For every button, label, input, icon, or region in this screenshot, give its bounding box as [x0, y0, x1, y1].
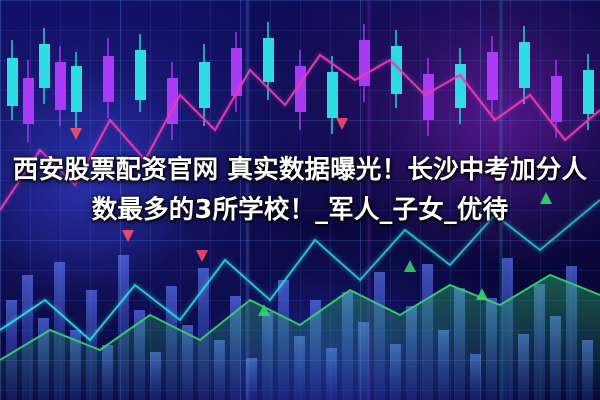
promo-banner: 西安股票配资官网 真实数据曝光！长沙中考加分人数最多的3所学校！_军人_子女_优…: [0, 0, 600, 400]
headline-text: 西安股票配资官网 真实数据曝光！长沙中考加分人数最多的3所学校！_军人_子女_优…: [8, 150, 592, 230]
headline-container: 西安股票配资官网 真实数据曝光！长沙中考加分人数最多的3所学校！_军人_子女_优…: [0, 150, 600, 230]
